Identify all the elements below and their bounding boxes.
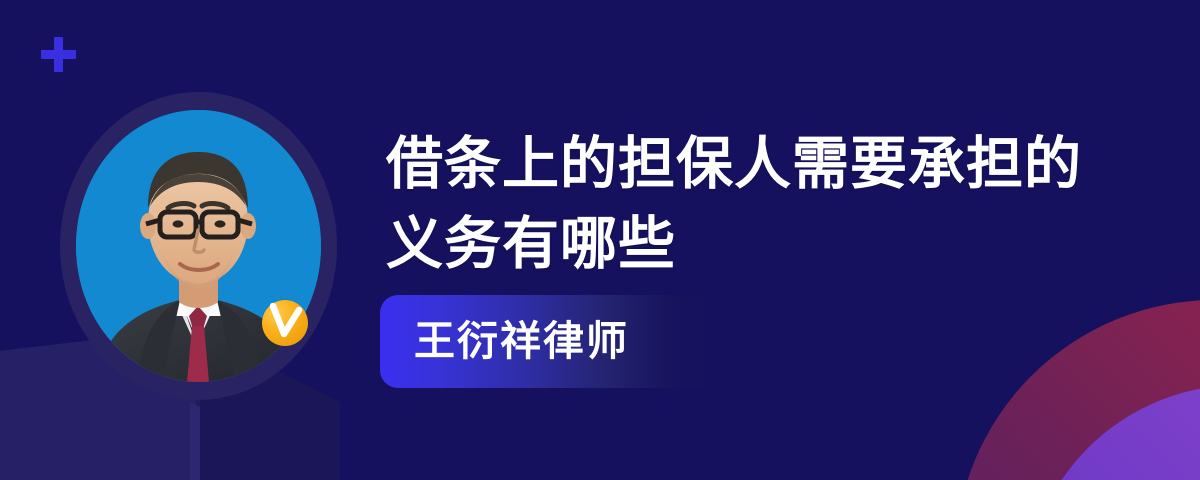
plus-icon-bar-vertical — [54, 37, 63, 72]
verified-badge — [262, 300, 308, 346]
lawyer-name-badge[interactable]: 王衍祥律师 — [380, 295, 715, 388]
promo-card: 借条上的担保人需要承担的义务有哪些 王衍祥律师 — [0, 0, 1200, 480]
verified-check-icon — [262, 300, 308, 346]
plus-icon — [41, 37, 76, 72]
page-title: 借条上的担保人需要承担的义务有哪些 — [386, 124, 1086, 284]
lawyer-name-label: 王衍祥律师 — [414, 321, 629, 362]
avatar[interactable] — [60, 92, 337, 400]
